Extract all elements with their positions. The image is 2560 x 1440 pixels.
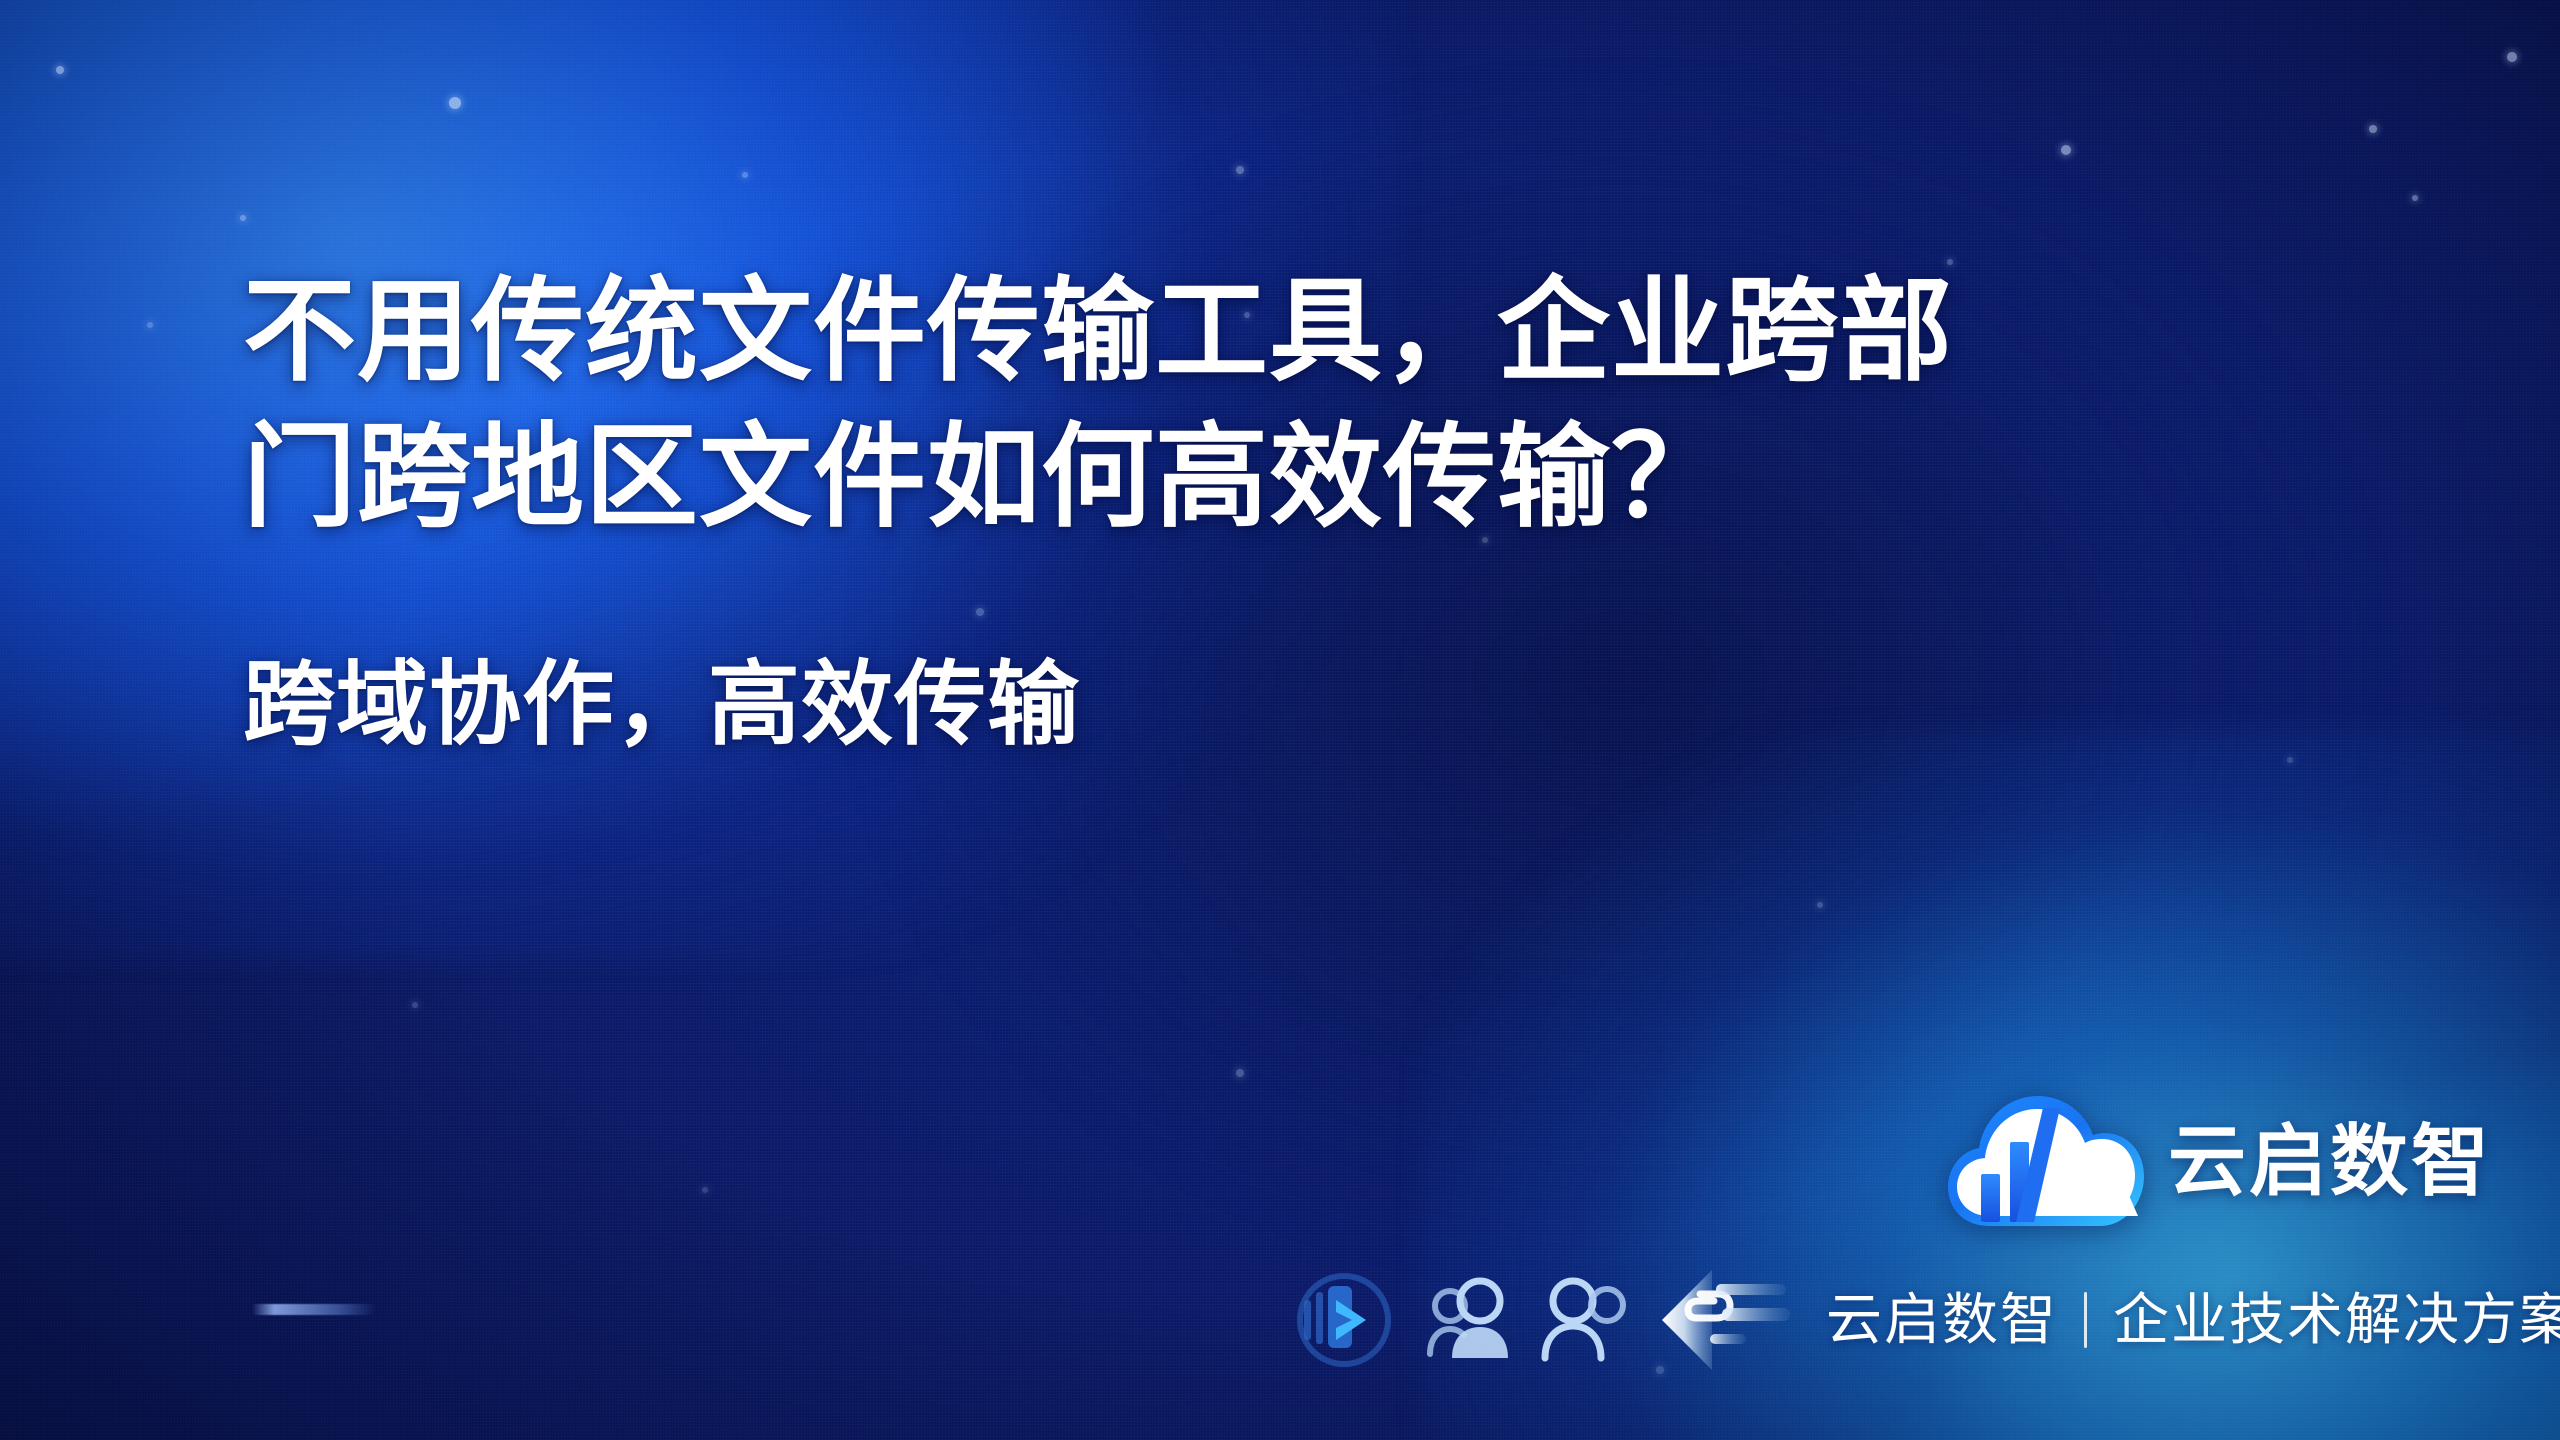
light-streak-decoration (252, 1304, 376, 1315)
particle-dot (2287, 757, 2293, 763)
particle-dot (1236, 166, 1244, 174)
particle-dot (240, 215, 246, 221)
particle-dot (449, 97, 461, 109)
particle-dot (412, 1002, 418, 1008)
headline-line-2: 门跨地区文件如何高效传输？ (243, 404, 2243, 550)
bottom-bar-text: 云启数智 企业技术解决方案 (1826, 1292, 2560, 1348)
play-arrow-circle-icon (1290, 1266, 1398, 1374)
particle-dot (2412, 195, 2418, 201)
particle-dot (1236, 1069, 1244, 1077)
particle-dot (742, 172, 748, 178)
particle-dot (702, 1187, 708, 1193)
speed-swoosh-icon (1660, 1268, 1792, 1372)
brand-logo: 云启数智 (1948, 1090, 2492, 1232)
brand-name: 云启数智 (2168, 1122, 2492, 1200)
user-group-icon (1424, 1272, 1520, 1368)
text-block: 不用传统文件传输工具，企业跨部 门跨地区文件如何高效传输？ 跨域协作，高效传输 (243, 258, 2243, 764)
subheadline: 跨域协作，高效传输 (243, 646, 2243, 764)
particle-dot (1817, 902, 1823, 908)
cloud-chart-logo-icon (1948, 1090, 2144, 1232)
bottom-bar: 云启数智 企业技术解决方案 (1290, 1262, 2560, 1378)
user-group-alt-icon (1536, 1272, 1632, 1368)
particle-dot (56, 66, 64, 74)
particle-dot (2507, 52, 2517, 62)
headline-line-1: 不用传统文件传输工具，企业跨部 (243, 258, 2243, 404)
particle-dot (2369, 125, 2377, 133)
particle-dot (147, 322, 153, 328)
bottom-bar-tagline: 企业技术解决方案 (2113, 1292, 2560, 1348)
slide-canvas: 不用传统文件传输工具，企业跨部 门跨地区文件如何高效传输？ 跨域协作，高效传输 (0, 0, 2560, 1440)
particle-dot (2061, 145, 2071, 155)
bottom-bar-separator (2084, 1292, 2087, 1348)
bottom-bar-brand: 云启数智 (1826, 1292, 2058, 1348)
